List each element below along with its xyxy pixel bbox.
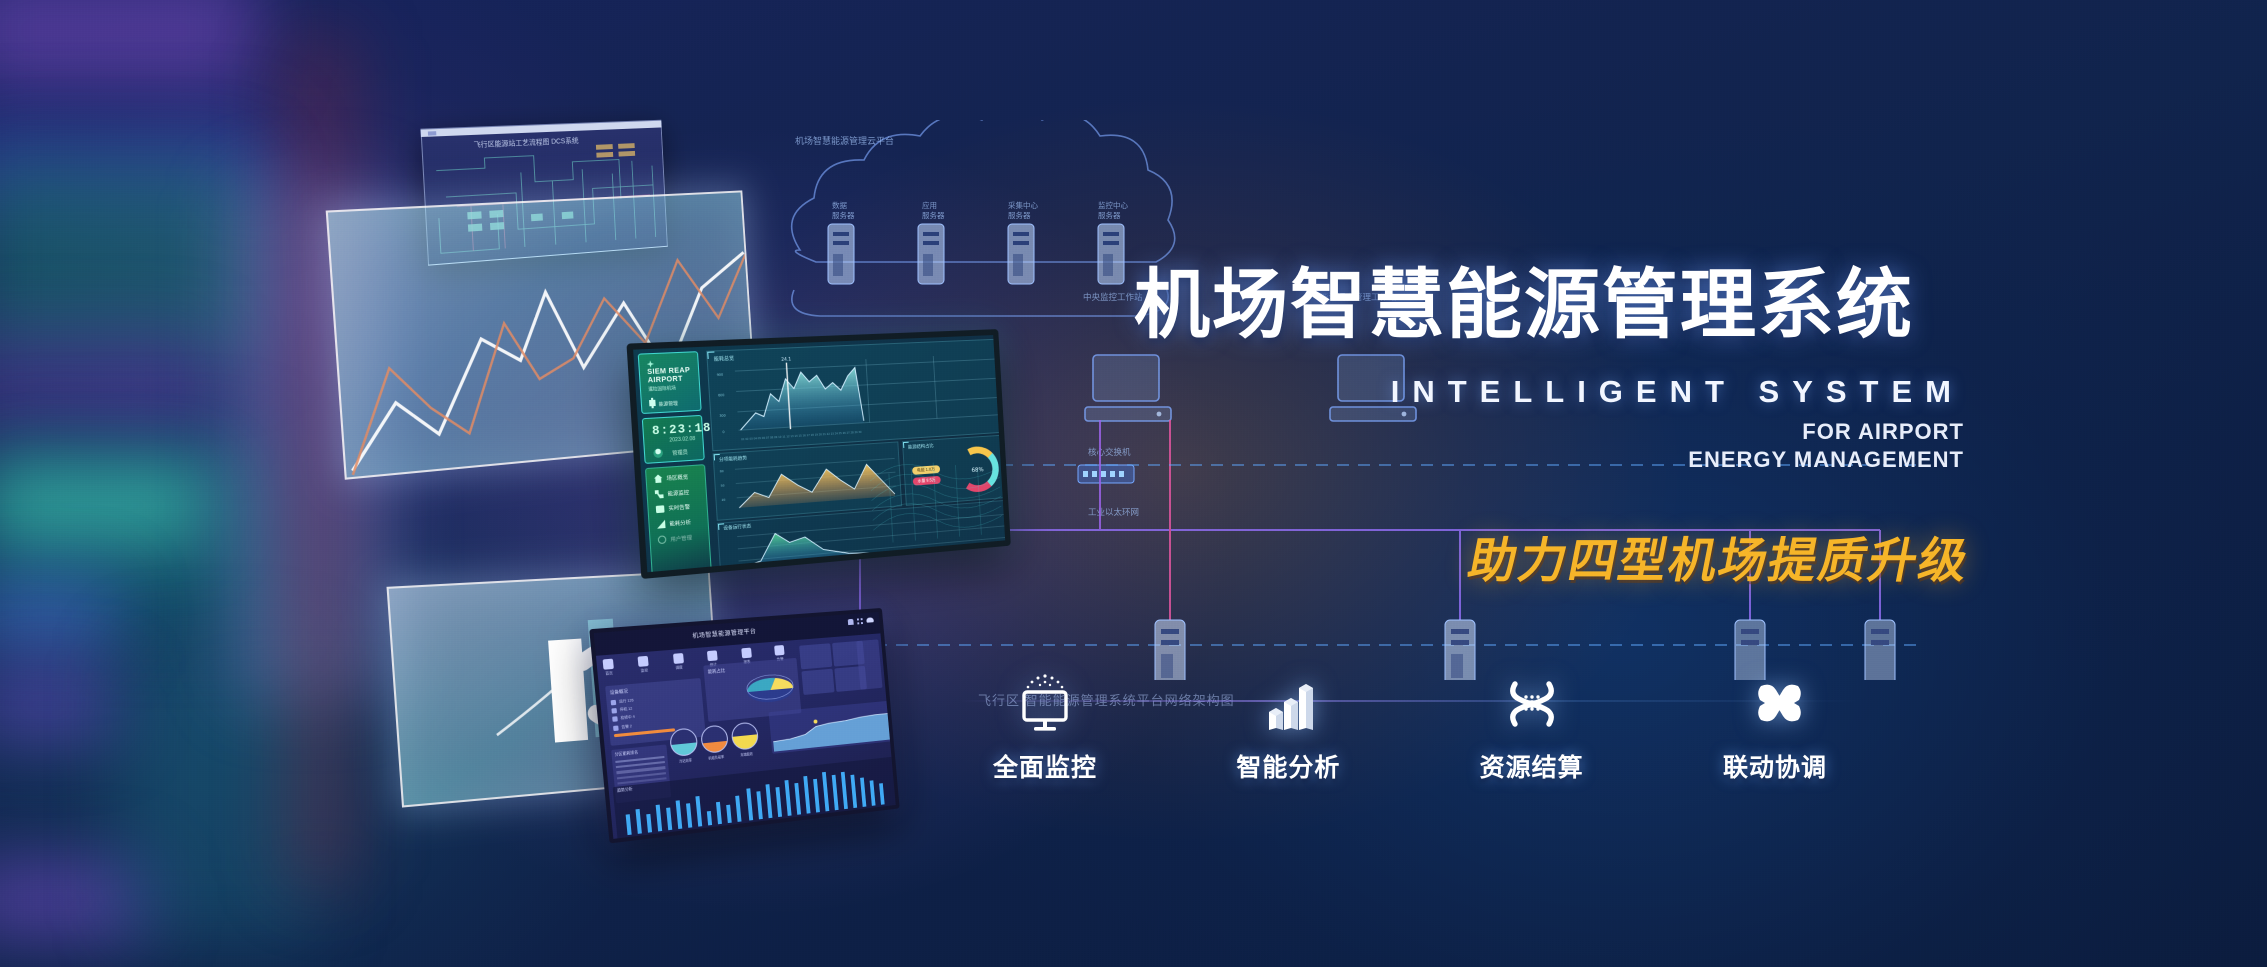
brand-en-line1: SIEM REAP <box>647 367 690 376</box>
toolbar-icon-5[interactable] <box>774 645 784 656</box>
feature-item-coordination[interactable]: 联动协调 <box>1690 672 1860 784</box>
dashboard-nav[interactable]: 场区概览 能源监控 实时告警 能耗分析 用户管理 <box>645 464 712 578</box>
svg-text:80: 80 <box>720 469 724 473</box>
feature-label-1: 智能分析 <box>1236 748 1340 784</box>
svg-text:数据: 数据 <box>832 200 847 210</box>
toolbar-icon-1[interactable] <box>638 656 649 667</box>
svg-text:服务器: 服务器 <box>1098 210 1121 220</box>
user-label: 管理员 <box>672 449 688 457</box>
svg-text:机场智慧能源管理云平台: 机场智慧能源管理云平台 <box>795 135 894 147</box>
resource-node-icon <box>1501 672 1563 734</box>
monitor-signal-icon <box>1014 672 1076 734</box>
toolbar-label-0: 首页 <box>604 671 615 677</box>
alert-icon <box>656 505 665 513</box>
feature-item-analysis[interactable]: 智能分析 <box>1203 672 1373 784</box>
panel-energy-overview: 能耗总览 24.1 9006003000 01 02 03 04 05 06 0… <box>706 339 1006 452</box>
grid-menu-icon[interactable] <box>857 618 863 624</box>
secondary-chat-panel <box>856 639 882 689</box>
subtitle-line3: ENERGY MANAGEMENT <box>1134 446 1964 474</box>
svg-text:50: 50 <box>721 483 725 487</box>
panel-title-3: 能源结构占比 <box>908 443 934 451</box>
feature-item-resource[interactable]: 资源结算 <box>1447 672 1617 784</box>
user-settings-icon <box>658 535 667 544</box>
svg-text:0: 0 <box>722 430 724 434</box>
tag-0: 电能 1.8万 <box>912 465 940 475</box>
menu-icon <box>648 398 657 409</box>
svg-text:服务器: 服务器 <box>1008 210 1031 220</box>
feature-label-0: 全面监控 <box>993 748 1097 784</box>
feature-label-2: 资源结算 <box>1480 748 1584 784</box>
feature-label-3: 联动协调 <box>1723 748 1827 784</box>
panel-energy-structure: 能源结构占比 68% 电能 1.8万 水量 9.5万 <box>902 435 1010 506</box>
nav-label-4: 用户管理 <box>670 534 692 543</box>
energy-donut-chart: 68% <box>949 439 1007 501</box>
headline-block: 机场智慧能源管理系统 INTELLIGENT SYSTEM FOR AIRPOR… <box>1134 268 1964 473</box>
toolbar-icon-2[interactable] <box>673 653 684 664</box>
svg-text:监控中心: 监控中心 <box>1098 200 1128 210</box>
svg-text:20: 20 <box>721 498 725 502</box>
svg-text:900: 900 <box>717 373 723 377</box>
secondary-pie-chart <box>741 666 798 710</box>
svg-text:01 02 03 04 05 06 07 08 09 10: 01 02 03 04 05 06 07 08 09 10 11 12 13 1… <box>741 430 862 441</box>
cloud-icon[interactable] <box>866 617 874 622</box>
bell-icon[interactable] <box>848 619 854 625</box>
brand-cn: 暹粒国际机场 <box>648 385 676 393</box>
tag-1: 水量 9.5万 <box>913 476 941 486</box>
feature-list: 全面监控 智能分析 <box>960 672 1860 784</box>
toolbar-icon-4[interactable] <box>741 648 752 659</box>
toolbar-icon-3[interactable] <box>707 650 718 661</box>
secondary-title: 机场智慧能源管理平台 <box>692 626 757 640</box>
toolbar-icon-0[interactable] <box>603 659 614 670</box>
page-title: 机场智慧能源管理系统 <box>1134 268 1964 344</box>
svg-text:24.1: 24.1 <box>781 356 791 362</box>
dashboard-sidebar: SIEM REAP AIRPORT 暹粒国际机场 能源管理 8:23:18 20… <box>633 347 715 572</box>
panel-subitem-trend: 分项能耗趋势 805020 <box>713 441 903 520</box>
svg-text:核心交换机: 核心交换机 <box>1088 447 1131 458</box>
nav-label-2: 实时告警 <box>668 503 690 512</box>
svg-text:应用: 应用 <box>922 200 937 210</box>
svg-text:服务器: 服务器 <box>922 210 945 220</box>
nav-label-3: 能耗分析 <box>669 518 691 527</box>
dashboard-date: 2023.02.08 <box>669 436 695 444</box>
svg-text:300: 300 <box>719 414 725 418</box>
grid-icon <box>655 490 664 499</box>
nav-label-0: 场区概览 <box>666 473 688 482</box>
banner-canvas: 数据服务器 应用服务器 采集中心服务器 监控中心服务器 机场智慧能源管理云平台 … <box>0 0 2267 967</box>
brand-en-line2: AIRPORT <box>648 376 683 385</box>
nav-label-1: 能源监控 <box>667 488 689 497</box>
analytics-icon <box>657 520 666 529</box>
menu-title: 能源管理 <box>659 401 679 408</box>
bar-chart-icon <box>1257 672 1319 734</box>
feature-item-monitor[interactable]: 全面监控 <box>960 672 1130 784</box>
svg-text:600: 600 <box>718 393 724 397</box>
main-dashboard-screen: SIEM REAP AIRPORT 暹粒国际机场 能源管理 8:23:18 20… <box>626 329 1010 579</box>
donut-center-value: 68% <box>971 466 984 474</box>
toolbar-label-1: 监控 <box>639 668 650 674</box>
core-switch-node <box>1078 465 1134 483</box>
secondary-dashboard-screen: 机场智慧能源管理平台 首页 监控 调度 统计 报表 告警 设备概况 运行 126… <box>589 608 899 844</box>
subtitle-en: INTELLIGENT SYSTEM <box>1134 374 1964 410</box>
field-station-nodes <box>845 620 1895 680</box>
svg-text:工业以太环网: 工业以太环网 <box>1088 507 1139 518</box>
svg-text:采集中心: 采集中心 <box>1008 200 1038 210</box>
subtitle-line2: FOR AIRPORT <box>1134 418 1964 446</box>
toolbar-label-2: 调度 <box>674 665 684 671</box>
tagline: 助力四型机场提质升级 <box>1343 521 1977 591</box>
cloud-server-nodes <box>828 224 1124 284</box>
user-icon <box>653 448 663 458</box>
svg-text:服务器: 服务器 <box>832 210 855 220</box>
interlock-chevron-icon <box>1744 672 1806 734</box>
home-icon <box>654 474 663 483</box>
